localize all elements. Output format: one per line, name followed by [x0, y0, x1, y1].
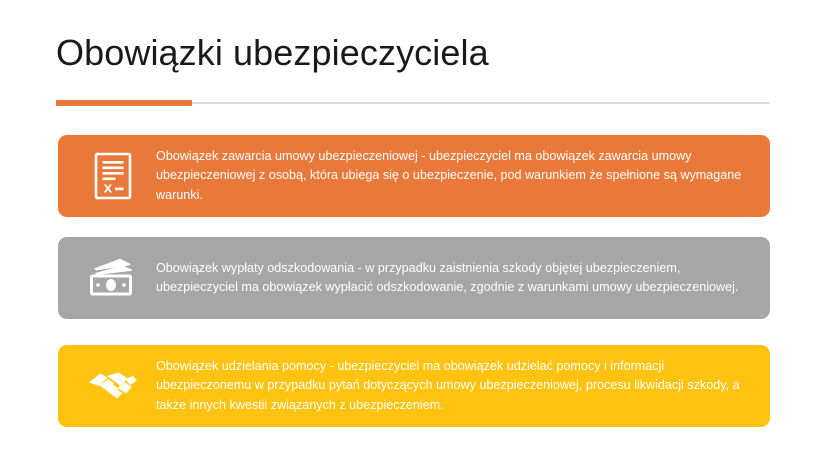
card-text: Obowiązek udzielania pomocy - ubezpieczy… [150, 357, 754, 416]
card-text: Obowiązek wypłaty odszkodowania - w przy… [150, 259, 754, 298]
title-divider-line [192, 102, 770, 104]
title-divider [56, 100, 770, 106]
card-text: Obowiązek zawarcia umowy ubezpieczeniowe… [150, 147, 754, 206]
handshake-icon [76, 356, 150, 416]
contract-document-icon [76, 146, 150, 206]
card-obowiazek-wyplaty-odszkodowania[interactable]: Obowiązek wypłaty odszkodowania - w przy… [58, 237, 770, 319]
card-obowiazek-zawarcia-umowy[interactable]: Obowiązek zawarcia umowy ubezpieczeniowe… [58, 135, 770, 217]
title-accent-bar [56, 100, 192, 106]
page-title: Obowiązki ubezpieczyciela [56, 30, 489, 76]
banknotes-money-icon [76, 248, 150, 308]
card-obowiazek-udzielania-pomocy[interactable]: Obowiązek udzielania pomocy - ubezpieczy… [58, 345, 770, 427]
slide-canvas: Obowiązki ubezpieczyciela Obowiązek zawa… [0, 0, 828, 466]
